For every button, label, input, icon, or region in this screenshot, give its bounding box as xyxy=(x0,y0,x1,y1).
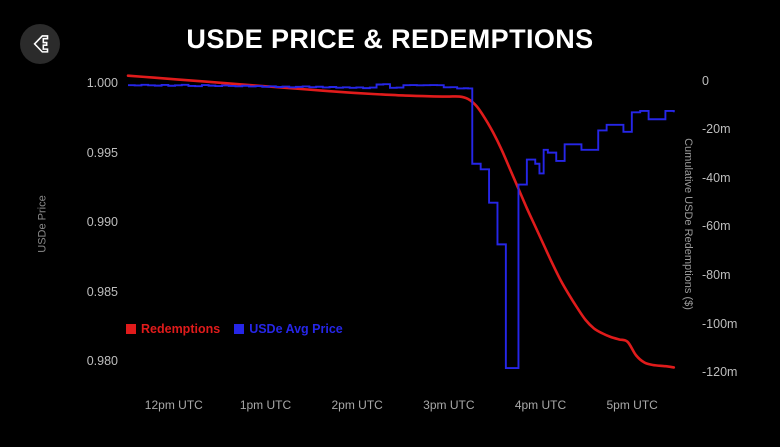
x-axis-tick-label: 2pm UTC xyxy=(332,398,383,412)
y-axis-right-tick-label: -100m xyxy=(702,317,737,331)
y-axis-right-label: Cumulative USDe Redemptions ($) xyxy=(682,138,694,310)
y-axis-right-tick-label: 0 xyxy=(702,74,709,88)
y-axis-right-tick-label: -40m xyxy=(702,171,730,185)
y-axis-right-tick-label: -120m xyxy=(702,365,737,379)
legend-item-redemptions[interactable]: Redemptions xyxy=(126,322,220,336)
legend-label-usde-avg-price: USDe Avg Price xyxy=(249,322,343,336)
y-axis-left-tick-label: 0.985 xyxy=(87,285,118,299)
y-axis-left-tick-label: 0.980 xyxy=(87,354,118,368)
y-axis-left-ticks: 1.0000.9950.9900.9850.980 xyxy=(30,0,118,447)
y-axis-left-tick-label: 1.000 xyxy=(87,76,118,90)
y-axis-right-tick-label: -60m xyxy=(702,219,730,233)
legend-label-redemptions: Redemptions xyxy=(141,322,220,336)
legend-item-usde-avg-price[interactable]: USDe Avg Price xyxy=(234,322,343,336)
legend-swatch-icon xyxy=(126,324,136,334)
x-axis-tick-label: 12pm UTC xyxy=(145,398,203,412)
legend-swatch-icon xyxy=(234,324,244,334)
chart-screenshot: USDE PRICE & REDEMPTIONS USDe Price Cumu… xyxy=(0,0,780,447)
y-axis-right-ticks: 0-20m-40m-60m-80m-100m-120m xyxy=(702,0,772,447)
y-axis-right-tick-label: -80m xyxy=(702,268,730,282)
x-axis-tick-label: 3pm UTC xyxy=(423,398,474,412)
x-axis-tick-label: 1pm UTC xyxy=(240,398,291,412)
y-axis-right-tick-label: -20m xyxy=(702,122,730,136)
y-axis-left-tick-label: 0.990 xyxy=(87,215,118,229)
x-axis-tick-label: 4pm UTC xyxy=(515,398,566,412)
x-axis-ticks: 12pm UTC1pm UTC2pm UTC3pm UTC4pm UTC5pm … xyxy=(0,398,780,420)
y-axis-left-tick-label: 0.995 xyxy=(87,146,118,160)
x-axis-tick-label: 5pm UTC xyxy=(607,398,658,412)
chart-legend: Redemptions USDe Avg Price xyxy=(126,322,343,336)
